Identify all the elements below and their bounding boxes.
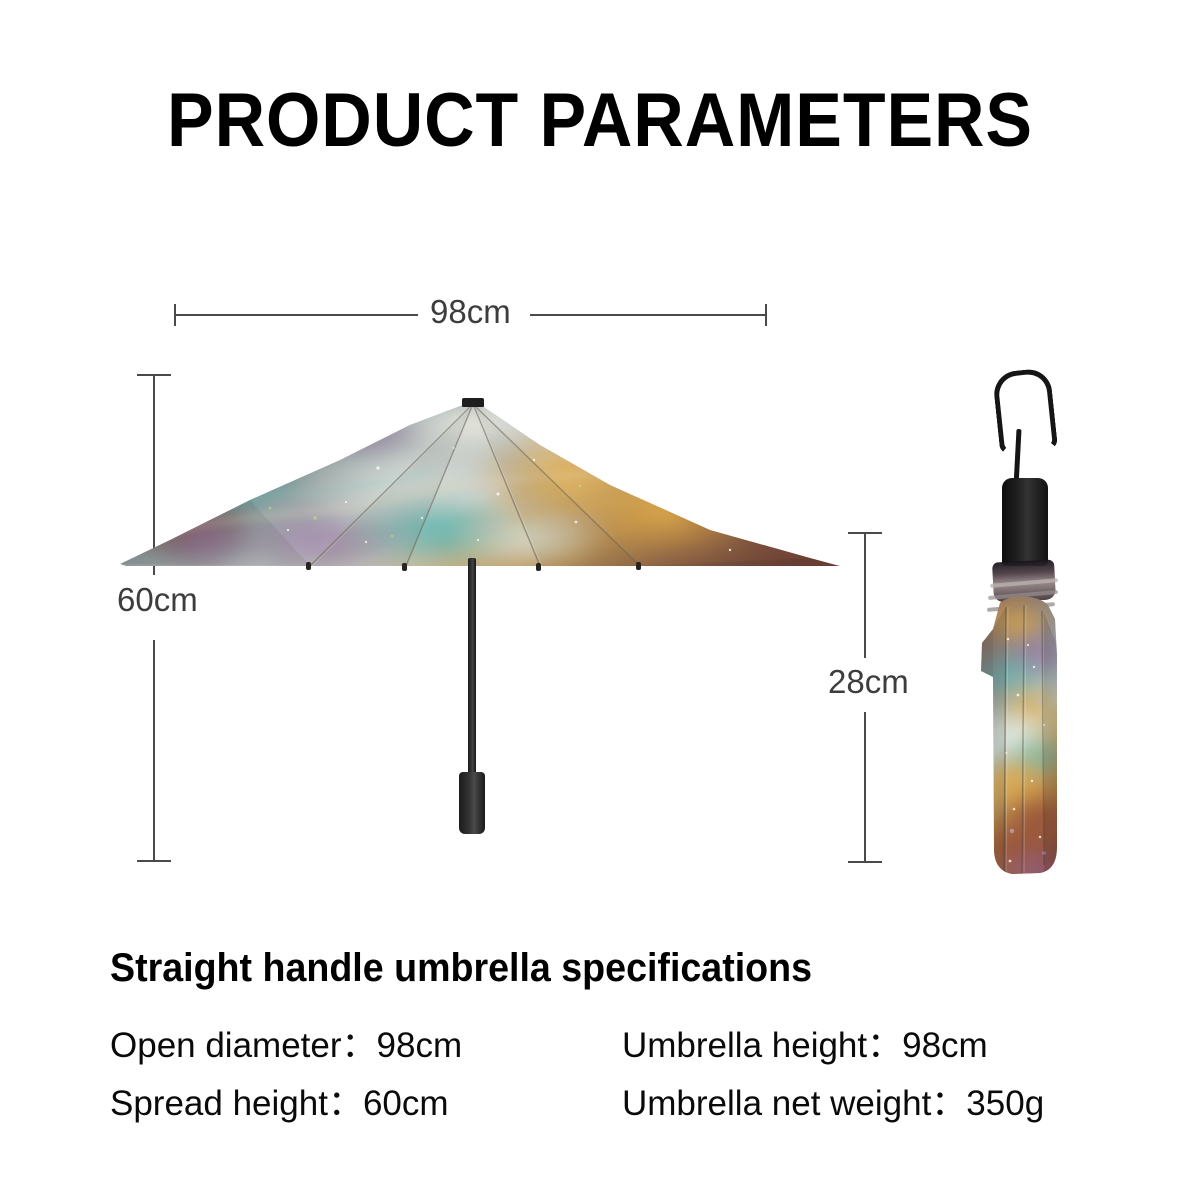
width-dimension-line-left	[175, 314, 418, 316]
folded-length-line-lower	[864, 712, 866, 862]
folded-umbrella-handle	[1002, 478, 1048, 566]
specs-table: Open diameter：98cm Umbrella height：98cm …	[110, 1022, 1120, 1138]
umbrella-shaft	[468, 558, 476, 786]
open-umbrella-illustration	[110, 390, 850, 850]
umbrella-grip	[459, 772, 485, 834]
spec-umbrella-height: Umbrella height：98cm	[622, 1022, 1120, 1070]
spec-open-diameter: Open diameter：98cm	[110, 1022, 622, 1070]
folded-canopy-svg	[960, 585, 1090, 895]
umbrella-finial	[462, 398, 484, 407]
folded-umbrella-illustration	[960, 365, 1090, 895]
folded-length-line-upper	[864, 533, 866, 658]
specs-row: Open diameter：98cm Umbrella height：98cm	[110, 1022, 1120, 1080]
width-dimension-label: 98cm	[430, 295, 511, 329]
width-dimension-cap-right	[765, 304, 767, 326]
product-parameters-page: PRODUCT PARAMETERS 98cm 60cm 28cm	[0, 0, 1200, 1200]
folded-length-cap-bottom	[848, 861, 882, 863]
canopy-svg	[110, 390, 850, 575]
umbrella-canopy	[110, 390, 850, 575]
spec-umbrella-net-weight: Umbrella net weight：350g	[622, 1080, 1120, 1128]
specs-row: Spread height：60cm Umbrella net weight：3…	[110, 1080, 1120, 1138]
wrist-strap	[992, 367, 1058, 455]
specs-heading: Straight handle umbrella specifications	[110, 944, 812, 992]
width-dimension-line-right	[530, 314, 766, 316]
spread-height-cap-bottom	[137, 860, 171, 862]
spec-spread-height: Spread height：60cm	[110, 1080, 622, 1128]
page-title: PRODUCT PARAMETERS	[48, 78, 1152, 164]
folded-canopy	[960, 585, 1090, 895]
